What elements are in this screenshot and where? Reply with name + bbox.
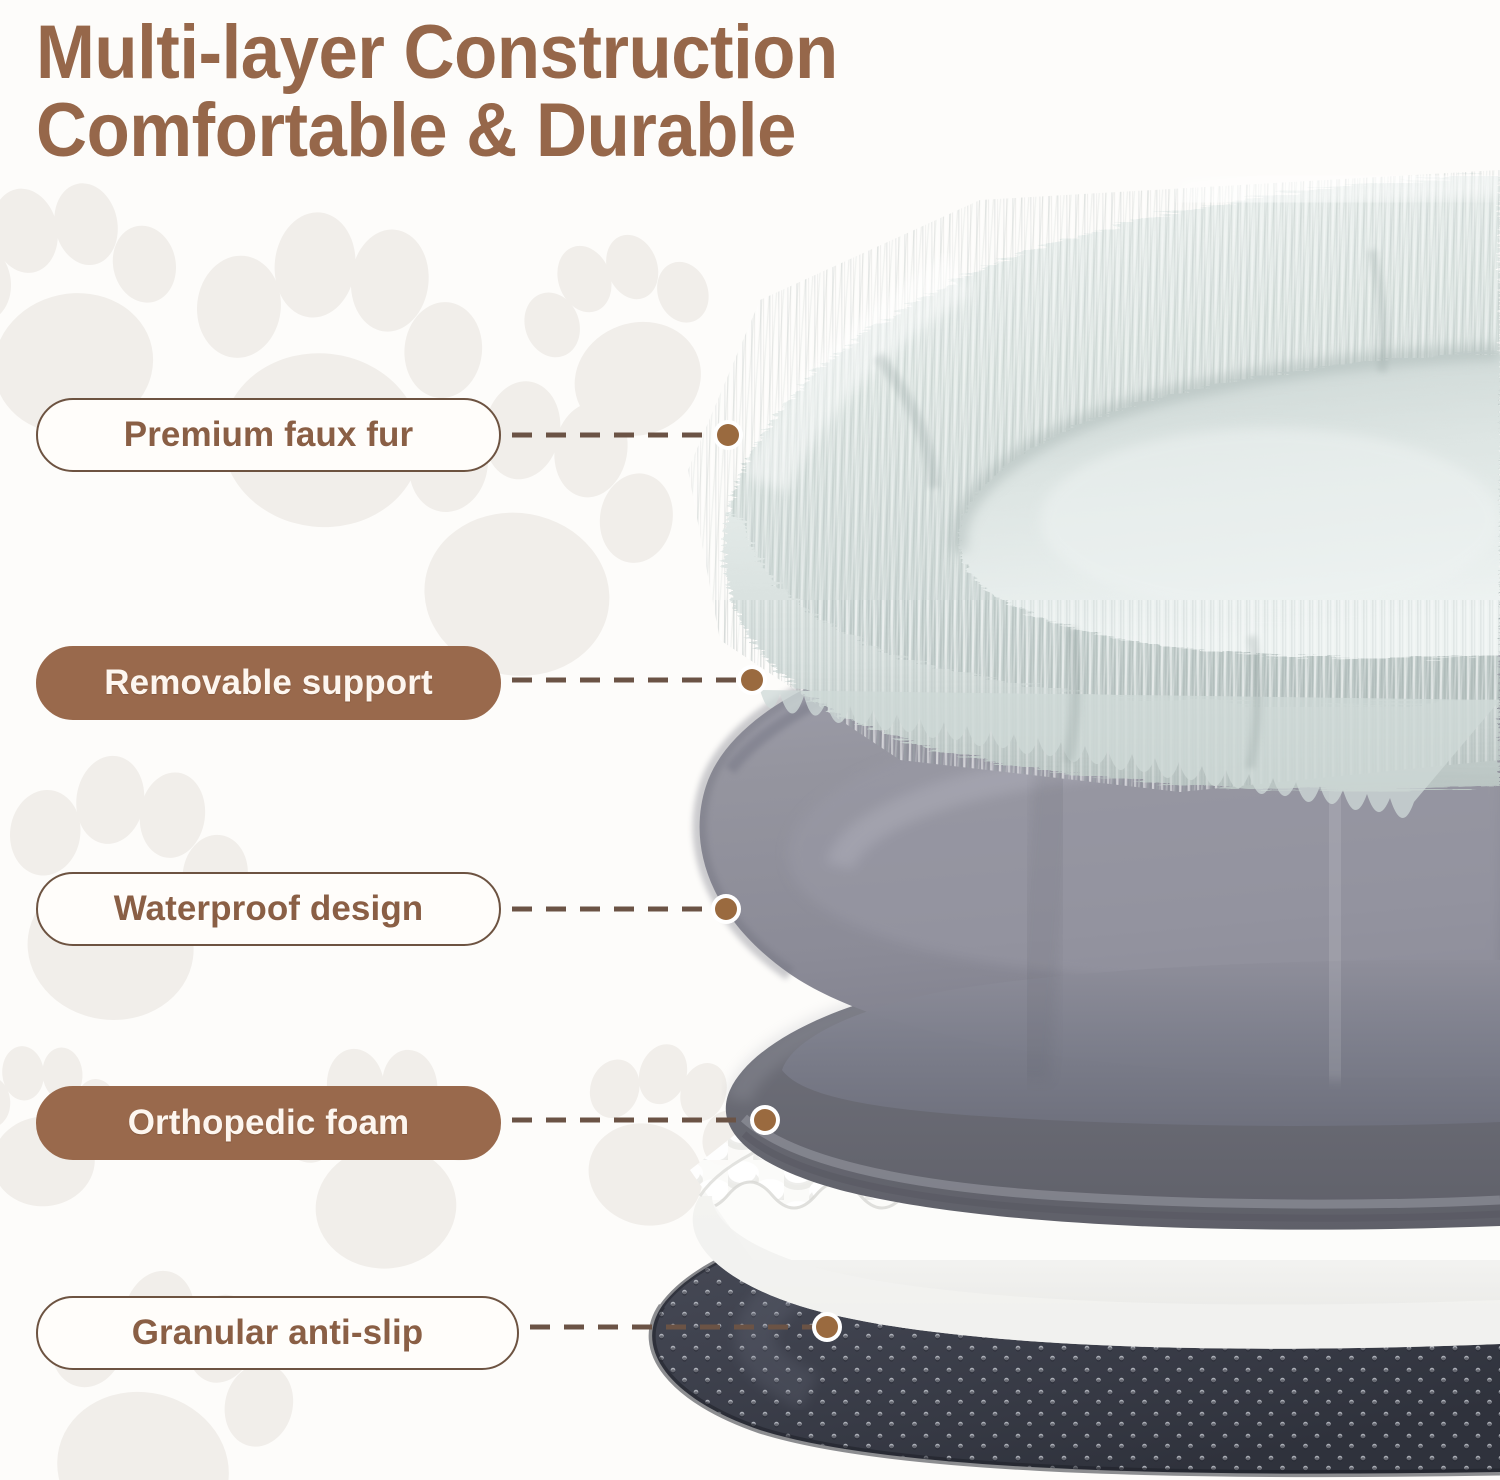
- callout-label: Orthopedic foam: [128, 1103, 410, 1143]
- callout-dot-ring: [750, 1105, 780, 1135]
- callout-label: Premium faux fur: [124, 415, 413, 455]
- product-photo-multi-layer-pet-bed: [0, 0, 1500, 1480]
- callout-pill-orthopedic-foam[interactable]: Orthopedic foam: [36, 1086, 501, 1160]
- callout-pill-waterproof-design[interactable]: Waterproof design: [36, 872, 501, 946]
- callout-anchor-dot: [754, 1109, 776, 1131]
- layer-granular-anti-slip: [652, 1190, 1500, 1473]
- callout-dot-ring: [737, 665, 767, 695]
- callout-label: Waterproof design: [114, 889, 424, 929]
- page-title-line-2: Comfortable & Durable: [36, 88, 796, 173]
- callout-pill-removable-support[interactable]: Removable support: [36, 646, 501, 720]
- callout-anchor-dot: [816, 1316, 838, 1338]
- paw-print-watermark-background: [0, 0, 1500, 1480]
- page-title: Multi-layer ConstructionComfortable & Du…: [36, 14, 838, 171]
- callout-anchor-dot: [715, 898, 737, 920]
- layer-removable-support: [700, 608, 1500, 1126]
- callout-anchor-dot: [741, 669, 763, 691]
- callout-label: Removable support: [104, 663, 432, 703]
- callout-pill-granular-anti-slip[interactable]: Granular anti-slip: [36, 1296, 519, 1370]
- callout-dot-ring: [711, 894, 741, 924]
- layer-faux-fur: [660, 150, 1500, 820]
- callout-anchor-dot: [717, 424, 739, 446]
- callout-dot-ring: [812, 1312, 842, 1342]
- callout-label: Granular anti-slip: [132, 1313, 424, 1353]
- page-title-line-1: Multi-layer Construction: [36, 10, 838, 95]
- layer-orthopedic-foam: [640, 1080, 1500, 1349]
- callout-pill-premium-faux-fur[interactable]: Premium faux fur: [36, 398, 501, 472]
- callout-dot-ring: [713, 420, 743, 450]
- callout-connectors: [0, 0, 1500, 1480]
- layer-waterproof-liner: [726, 957, 1500, 1230]
